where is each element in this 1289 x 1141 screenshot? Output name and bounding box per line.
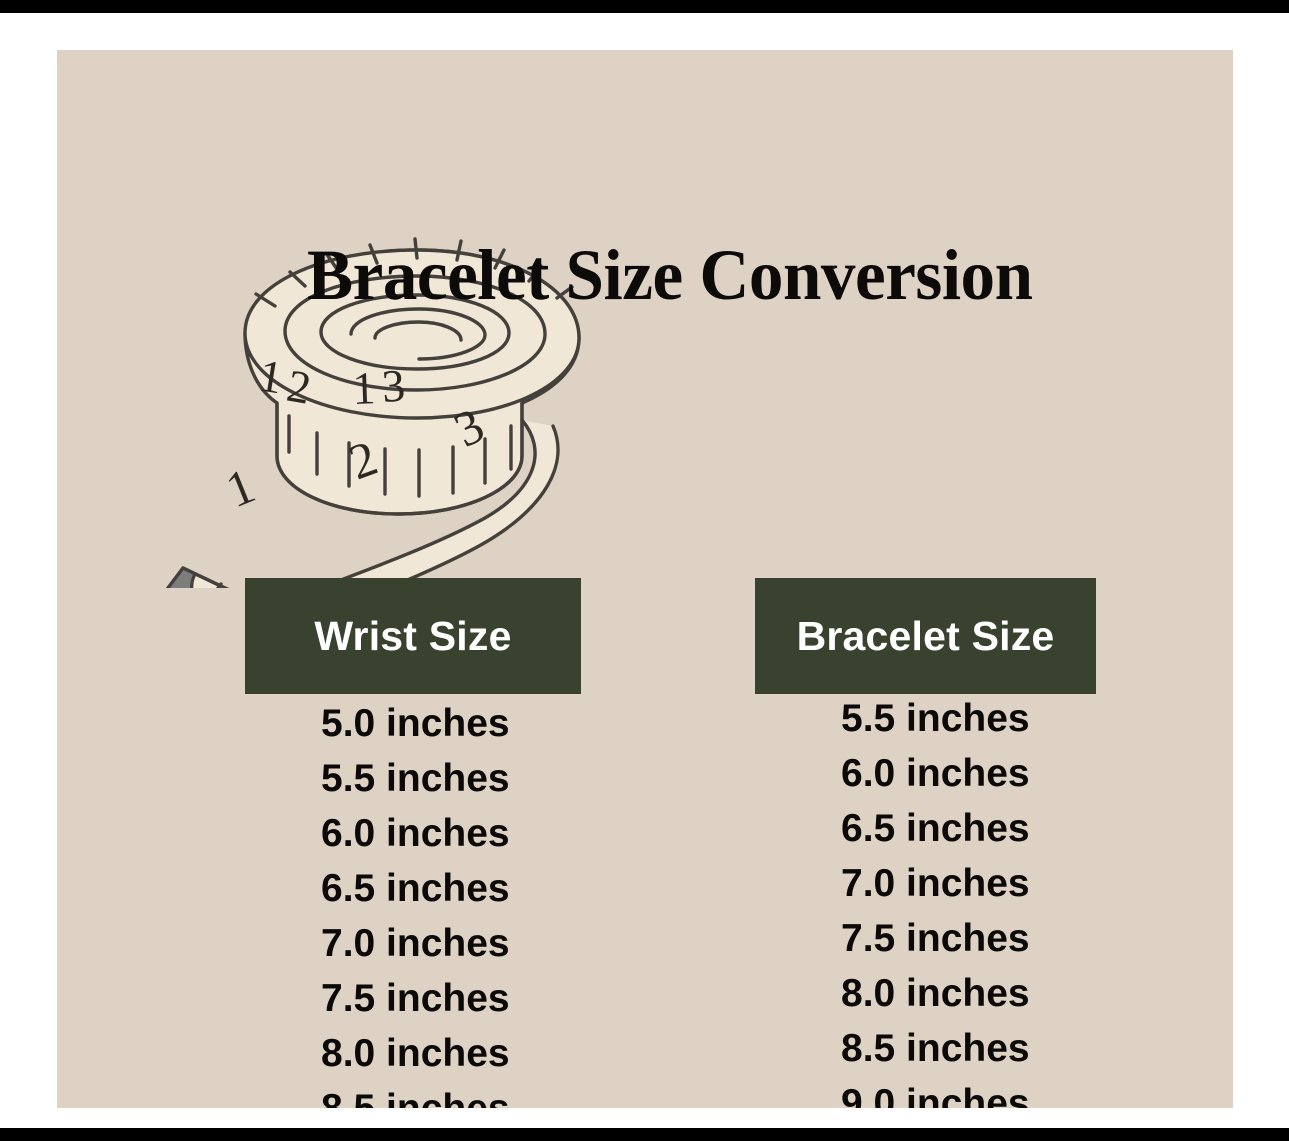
- page-title: Bracelet Size Conversion: [307, 236, 1056, 314]
- table-cell: 8.5 inches: [321, 1081, 510, 1108]
- table-cell: 9.0 inches: [841, 1076, 1030, 1108]
- svg-text:1: 1: [352, 362, 377, 414]
- table-cell: 8.0 inches: [321, 1026, 510, 1081]
- table-cell: 5.5 inches: [321, 751, 510, 806]
- column-header-wrist-size: Wrist Size: [245, 578, 581, 694]
- table-cell: 8.5 inches: [841, 1021, 1030, 1076]
- table-cell: 8.0 inches: [841, 966, 1030, 1021]
- svg-text:1: 1: [218, 457, 262, 518]
- svg-text:3: 3: [380, 359, 407, 411]
- infographic-canvas: 1 2 1 3 1 2 3 Bracelet Size Conversion W…: [57, 50, 1233, 1108]
- table-cell: 7.0 inches: [841, 856, 1030, 911]
- column-values-wrist-size: 5.0 inches 5.5 inches 6.0 inches 6.5 inc…: [321, 696, 510, 1108]
- table-cell: 7.5 inches: [841, 911, 1030, 966]
- table-cell: 7.5 inches: [321, 971, 510, 1026]
- table-cell: 5.5 inches: [841, 691, 1030, 746]
- table-cell: 7.0 inches: [321, 916, 510, 971]
- table-cell: 6.5 inches: [841, 801, 1030, 856]
- table-cell: 6.0 inches: [321, 806, 510, 861]
- column-values-bracelet-size: 5.5 inches 6.0 inches 6.5 inches 7.0 inc…: [841, 691, 1030, 1108]
- table-cell: 6.5 inches: [321, 861, 510, 916]
- letterbox-bar-top: [0, 0, 1289, 13]
- column-header-bracelet-size: Bracelet Size: [755, 578, 1096, 694]
- table-cell: 5.0 inches: [321, 696, 510, 751]
- letterbox-bar-bottom: [0, 1128, 1289, 1141]
- column-header-bracelet-size-label: Bracelet Size: [797, 614, 1055, 658]
- column-header-wrist-size-label: Wrist Size: [314, 614, 511, 658]
- table-cell: 6.0 inches: [841, 746, 1030, 801]
